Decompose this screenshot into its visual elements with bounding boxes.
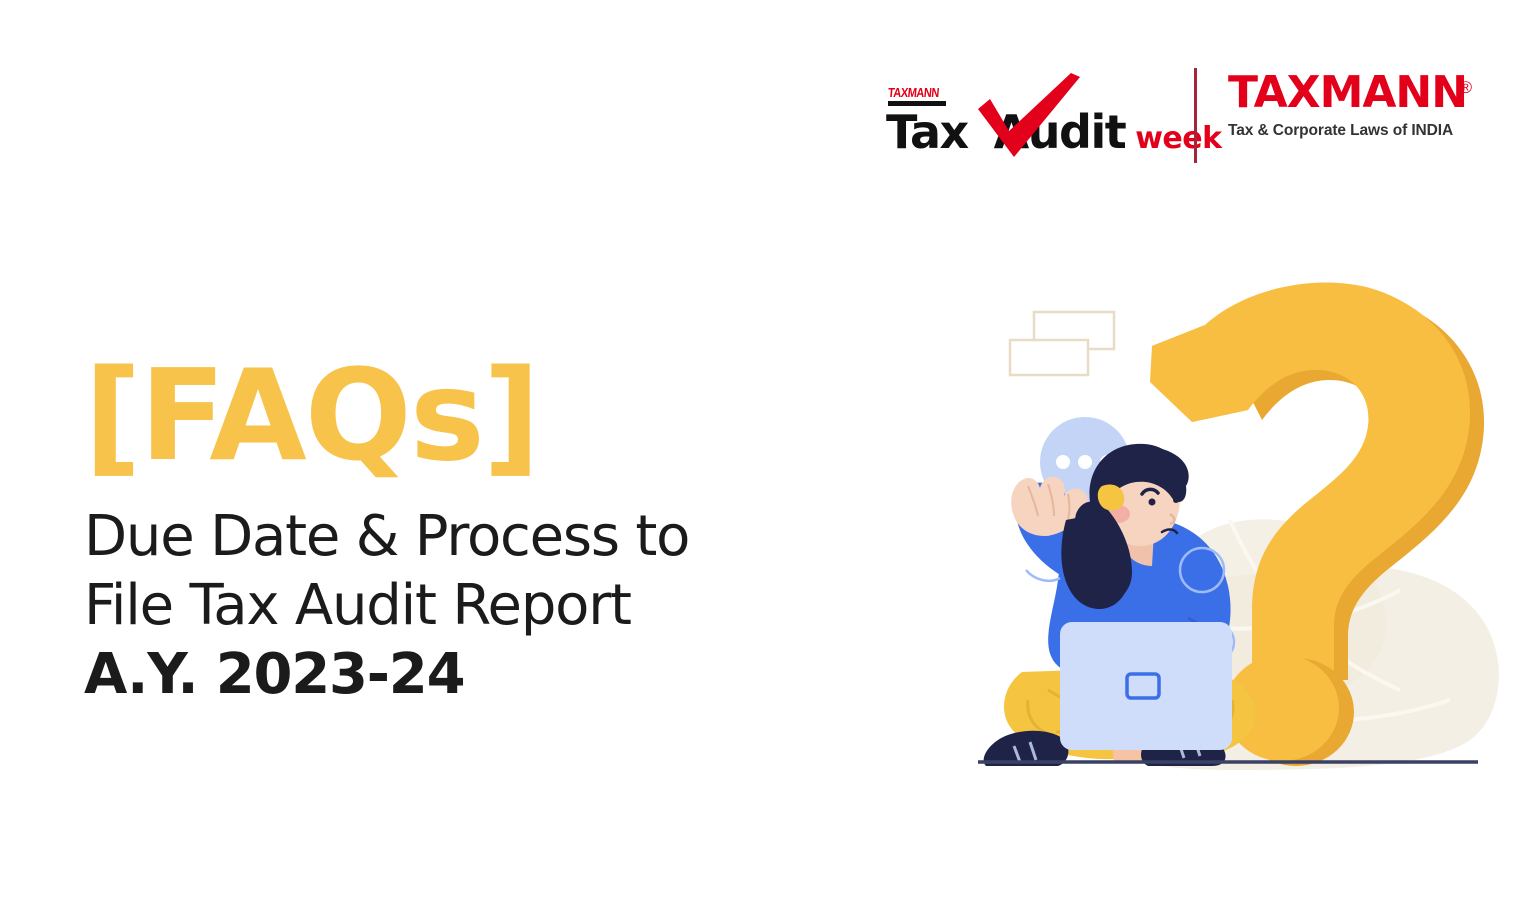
logo-word-week: week [1135,121,1221,156]
taxmann-wordmark: TAXMANN [1228,70,1478,116]
taxmann-mini-wordmark: TAXMANN [887,85,939,100]
title-line-3-assessment-year: A.Y. 2023-24 [84,640,784,709]
confused-person-question-mark-illustration [930,270,1510,790]
header-divider [1194,68,1197,163]
tax-audit-week-wordmark: Tax Audit week [886,105,1222,159]
taxmann-corporate-logo: TAXMANN ® Tax & Corporate Laws of INDIA [1228,70,1478,162]
title-line-2: File Tax Audit Report [84,571,784,640]
taxmann-tagline: Tax & Corporate Laws of INDIA [1228,122,1478,140]
poster-canvas: TAXMANN Tax Audit week TAXMANN ® Tax & C… [0,0,1536,900]
hero-illustration [930,270,1510,790]
page-title: Due Date & Process to File Tax Audit Rep… [84,502,784,709]
laptop-icon [1060,622,1232,750]
page-eyebrow-faqs: [FAQs] [84,356,784,476]
logo-word-audit: Audit [994,105,1126,159]
title-block: [FAQs] Due Date & Process to File Tax Au… [84,356,784,709]
tax-audit-week-logo: TAXMANN Tax Audit week [880,67,1180,167]
title-line-1: Due Date & Process to [84,502,784,571]
decorative-rectangles [1010,312,1114,375]
person-figure [984,444,1256,766]
logo-word-tax: Tax [886,105,968,159]
registered-trademark-icon: ® [1459,78,1472,98]
